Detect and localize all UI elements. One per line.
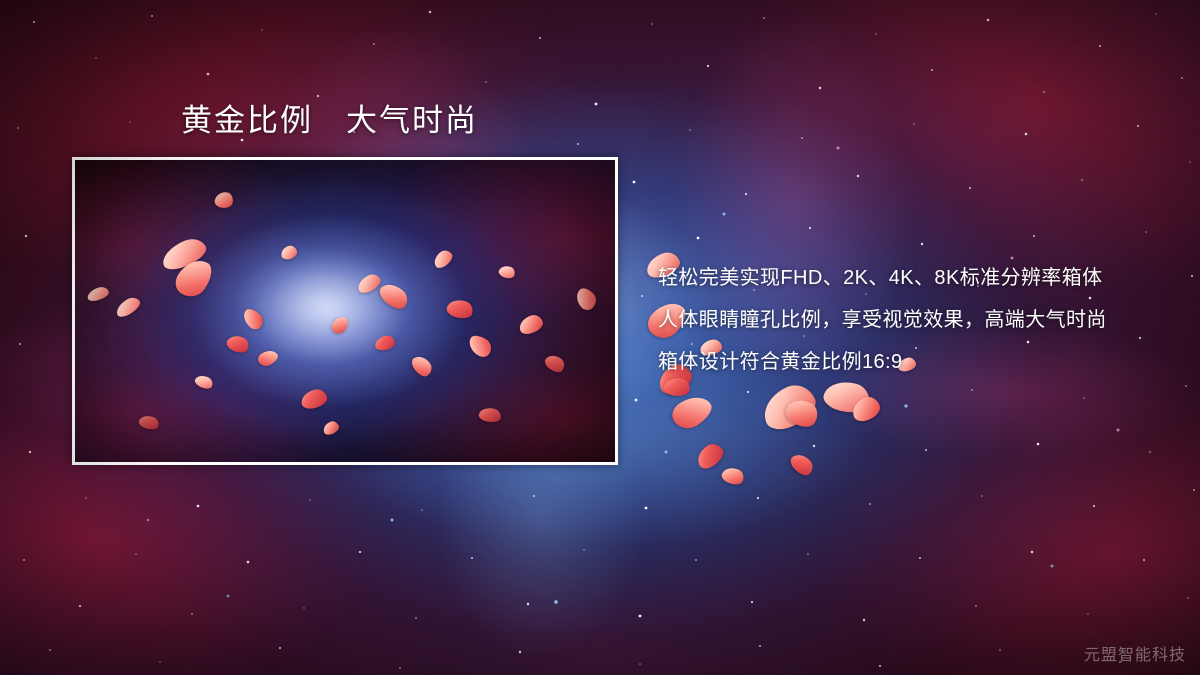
feature-line: 轻松完美实现FHD、2K、4K、8K标准分辨率箱体 [658,257,1158,299]
galaxy-petal-photo [75,160,615,462]
feature-line: 箱体设计符合黄金比例16:9 [658,341,1158,383]
presentation-slide: 黄金比例 大气时尚 轻松完美实现FHD、2K、4K、8K标准分辨率箱体 人体眼睛… [0,0,1200,675]
photo-vignette [75,160,615,462]
page-title: 黄金比例 大气时尚 [181,102,478,141]
feature-description-block: 轻松完美实现FHD、2K、4K、8K标准分辨率箱体 人体眼睛瞳孔比例，享受视觉效… [658,257,1158,383]
company-watermark: 元盟智能科技 [1084,641,1186,665]
feature-line: 人体眼睛瞳孔比例，享受视觉效果，高端大气时尚 [658,299,1158,341]
product-image-frame[interactable] [72,157,618,465]
